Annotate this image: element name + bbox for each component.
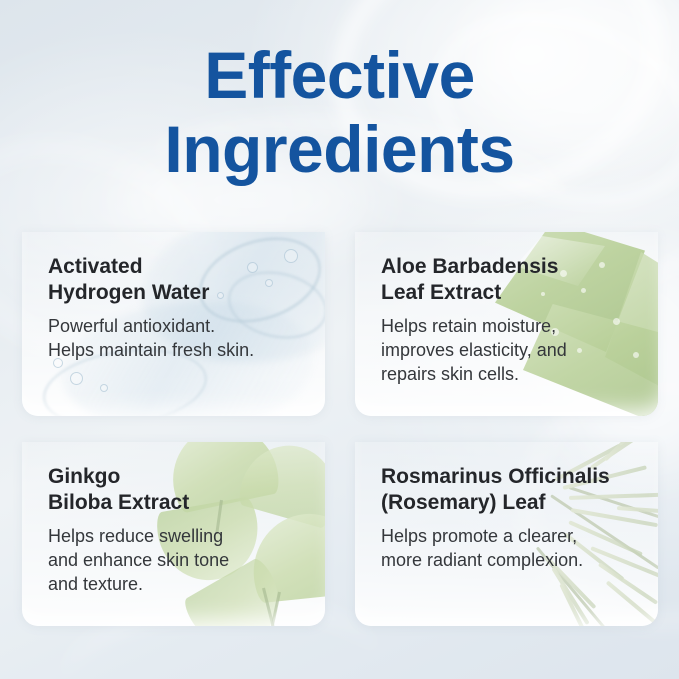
- ingredient-card-grid: Activated Hydrogen Water Powerful antiox…: [22, 232, 658, 642]
- card-body: Helps reduce swelling and enhance skin t…: [48, 524, 311, 596]
- card-text-block: Ginkgo Biloba Extract Helps reduce swell…: [48, 464, 311, 596]
- ingredients-poster: Effective Ingredients Activated Hydrog: [0, 0, 679, 679]
- page-title: Effective Ingredients: [0, 38, 679, 186]
- page-title-line-1: Effective: [0, 38, 679, 112]
- card-body: Helps promote a clearer, more radiant co…: [381, 524, 644, 572]
- card-title: Aloe Barbadensis Leaf Extract: [381, 254, 644, 306]
- ingredient-card-aloe-barbadensis-leaf-extract: Aloe Barbadensis Leaf Extract Helps reta…: [355, 232, 658, 416]
- card-title: Rosmarinus Officinalis (Rosemary) Leaf: [381, 464, 644, 516]
- card-text-block: Aloe Barbadensis Leaf Extract Helps reta…: [381, 254, 644, 386]
- page-title-line-2: Ingredients: [0, 112, 679, 186]
- ingredient-card-activated-hydrogen-water: Activated Hydrogen Water Powerful antiox…: [22, 232, 325, 416]
- card-title: Activated Hydrogen Water: [48, 254, 311, 306]
- ingredient-card-ginkgo-biloba-extract: Ginkgo Biloba Extract Helps reduce swell…: [22, 442, 325, 626]
- card-text-block: Rosmarinus Officinalis (Rosemary) Leaf H…: [381, 464, 644, 572]
- card-body: Powerful antioxidant. Helps maintain fre…: [48, 314, 311, 362]
- card-text-block: Activated Hydrogen Water Powerful antiox…: [48, 254, 311, 362]
- card-title: Ginkgo Biloba Extract: [48, 464, 311, 516]
- ingredient-card-rosmarinus-officinalis-rosemary-leaf: Rosmarinus Officinalis (Rosemary) Leaf H…: [355, 442, 658, 626]
- card-body: Helps retain moisture, improves elastici…: [381, 314, 644, 386]
